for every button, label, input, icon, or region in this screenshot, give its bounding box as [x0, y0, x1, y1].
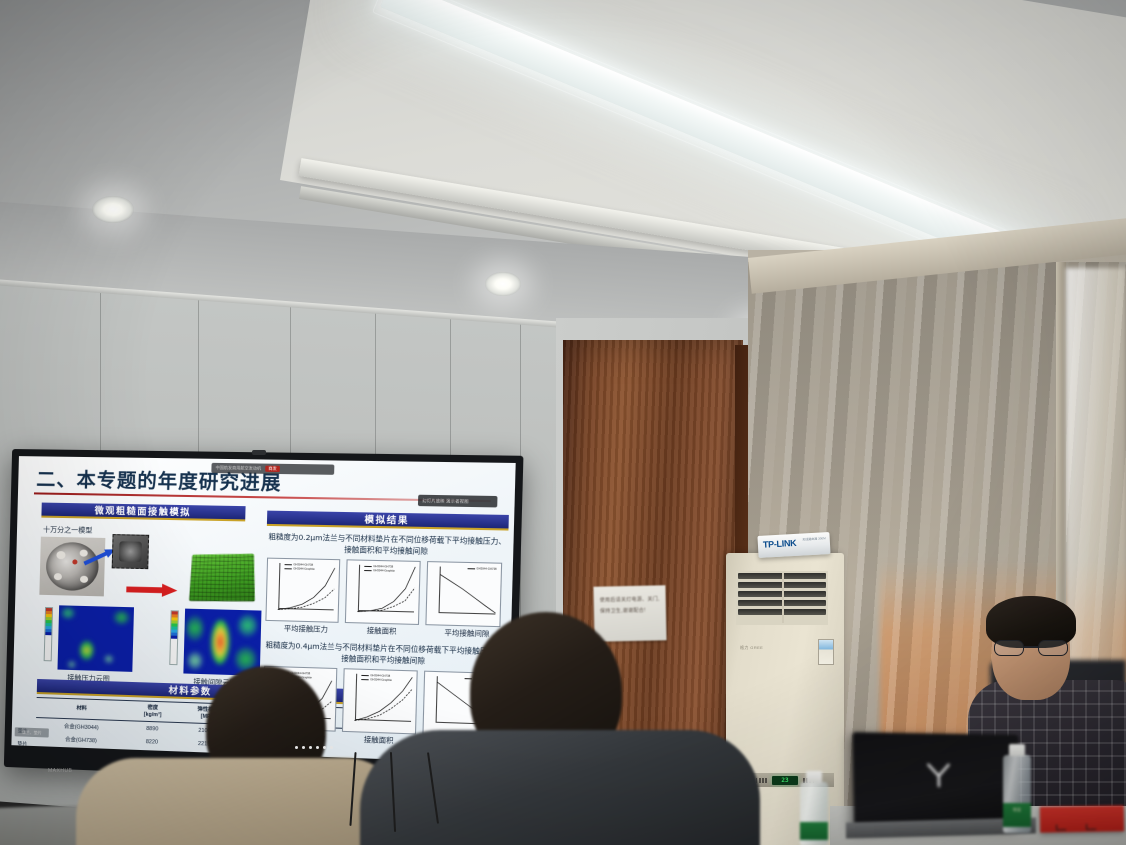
presentation-watermark: 中国航发商用航空发动机 商发 — [211, 463, 334, 475]
row-highlight-tag: 法兰、垫片 — [15, 727, 49, 737]
water-bottle-right[interactable]: 怡宝 — [1003, 755, 1031, 833]
display-indicator-lights — [295, 745, 347, 750]
results-p2-line2: 接触面积和平均接触间隙 — [341, 654, 425, 666]
contact-pressure-contour-plot — [57, 605, 134, 672]
chart-2-caption: 接触面积 — [367, 626, 397, 637]
water-bottle-left[interactable] — [800, 782, 828, 845]
slideshow-toolbar-text: 幻灯片放映 演示者视图 — [422, 497, 468, 504]
ac-air-grille-icon — [736, 571, 828, 625]
ac-brand-label: 格力 GREE — [740, 645, 763, 651]
display-brand-logo: MAXHUB — [48, 768, 72, 774]
cell-material: 金属缠绕石墨 — [35, 744, 126, 761]
col-density: 密度 [kg/m³] — [127, 701, 178, 723]
chart-5-caption: 接触面积 — [364, 735, 394, 746]
bottle-label: 怡宝 — [1003, 803, 1031, 827]
results-p1-line2: 接触面积和平均接触间隙 — [344, 545, 428, 556]
bottle-label — [800, 822, 828, 840]
slideshow-toolbar[interactable]: 幻灯片放映 演示者视图 — [418, 495, 498, 508]
audience-left-jacket — [76, 758, 406, 845]
results-paragraph-2: 粗糙度为0.4μm法兰与不同材料垫片在不同位移荷载下平均接触压力、 接触面积和平… — [263, 639, 505, 669]
bottle-cap — [806, 771, 822, 783]
section-header-simulation-results: 模拟结果 — [267, 511, 509, 531]
pressure-colorbar-legend — [44, 607, 53, 661]
red-nameplate — [1040, 805, 1124, 832]
router-brand-label: TP-LINK — [763, 538, 797, 550]
downlight-1-icon — [92, 196, 134, 223]
results-paragraph-1: 粗糙度为0.2μm法兰与不同材料垫片在不同位移荷载下平均接触压力、 接触面积和平… — [266, 531, 508, 559]
model-scale-label: 十万分之一模型 — [43, 525, 93, 536]
ac-energy-label — [818, 639, 834, 665]
display-camera-icon — [252, 450, 266, 455]
wifi-router[interactable]: TP-LINK 无线路由器 300M — [757, 532, 830, 558]
audience-center-jacket — [360, 730, 760, 845]
presenter-glasses-icon — [994, 640, 1070, 657]
fem-mesh-model — [189, 554, 255, 602]
row-part-label-2: 垫片 — [17, 740, 27, 747]
chart-5-contact-area: GH3044-GH738GH3044-Graphite — [342, 668, 418, 734]
gap-colorbar-legend — [169, 610, 179, 665]
watermark-chip: 商发 — [265, 466, 280, 472]
results-p1-line1: 粗糙度为0.2μm法兰与不同材料垫片在不同位移荷载下平均接触压力、 — [268, 532, 506, 546]
ac-temperature-display: 23 — [772, 776, 798, 785]
conference-room-scene: 使用后请关灯电源、关门, 保持卫生,谢谢配合! 格力 GREE 23 TP-LI… — [0, 0, 1126, 845]
process-arrow-icon — [126, 583, 177, 597]
chart-2-contact-area: GH3044-GH738GH3044-Graphite — [345, 559, 421, 625]
downlight-2-icon — [485, 272, 521, 296]
section-header-contact-simulation: 微观粗糙面接触模拟 — [41, 503, 245, 522]
rough-surface-sample-box — [112, 534, 150, 569]
laptop-logo-y-icon — [925, 762, 952, 789]
bottle-cap — [1009, 744, 1025, 756]
bottle-brand-text: 怡宝 — [1003, 807, 1031, 813]
chart-1-caption: 平均接触压力 — [284, 623, 328, 634]
router-sub-label: 无线路由器 300M — [802, 536, 826, 541]
chart-1-avg-contact-pressure: GH3044-GH738GH3044-Graphite — [265, 558, 340, 623]
audience-person-left — [206, 666, 326, 791]
audience-person-center — [470, 612, 622, 770]
results-p2-line1: 粗糙度为0.4μm法兰与不同材料垫片在不同位移荷载下平均接触压力、 — [266, 640, 504, 656]
watermark-text: 中国航发商用航空发动机 — [216, 465, 262, 472]
laptop[interactable] — [852, 732, 1020, 830]
